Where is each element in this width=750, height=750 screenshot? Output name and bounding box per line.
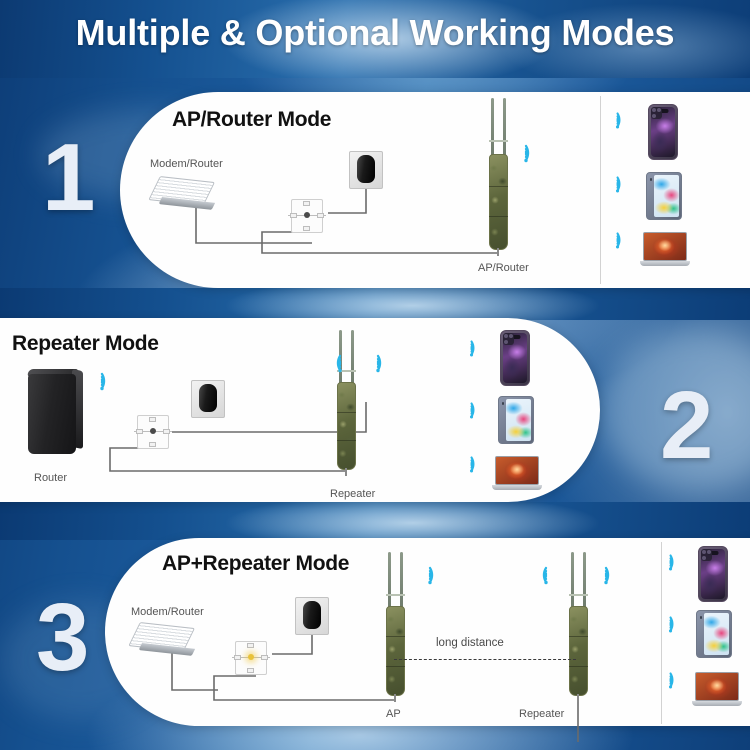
wifi-signal-icon	[372, 350, 398, 376]
poe-port-bottom	[303, 226, 310, 231]
antenna-rod-right	[351, 330, 354, 384]
tablet-screen	[654, 175, 679, 217]
laptop-base	[492, 485, 542, 490]
laptop-base	[692, 701, 742, 706]
caption-repeater-3: Repeater	[519, 708, 564, 720]
antenna-seam	[489, 216, 508, 217]
panel-3-divider	[661, 542, 662, 724]
antenna-crossbar	[489, 140, 508, 142]
modem-device-1	[160, 176, 218, 210]
poe-port-left	[234, 655, 241, 660]
client-laptop-2	[492, 456, 542, 492]
antenna-cable-tail	[394, 694, 396, 702]
antenna-rod-left	[491, 98, 494, 156]
mode-title-repeater: Repeater Mode	[12, 332, 159, 356]
poe-port-top	[303, 201, 310, 206]
tablet-screen	[704, 613, 729, 655]
poe-port-top	[149, 417, 156, 422]
client-laptop-1	[640, 232, 690, 268]
caption-modem-router-3: Modem/Router	[131, 606, 204, 618]
phone-camera-module	[701, 549, 712, 561]
step-number-3: 3	[36, 590, 89, 686]
antenna-rod-right	[400, 552, 403, 608]
camouflage-antenna-repeater-3	[566, 552, 591, 702]
wifi-signal-icon	[96, 368, 122, 394]
antenna-cable-tail	[497, 248, 499, 256]
laptop-base	[640, 261, 690, 266]
router-front-face	[28, 374, 76, 454]
power-adapter-brick	[303, 601, 321, 629]
poe-port-right	[163, 429, 170, 434]
antenna-camo-body	[489, 154, 508, 250]
poe-port-left	[136, 429, 143, 434]
wifi-signal-icon	[520, 140, 546, 166]
client-tablet-1	[646, 172, 682, 220]
antenna-cable-tail	[345, 468, 347, 476]
antenna-camo-body	[337, 382, 356, 470]
poe-port-bottom	[247, 668, 254, 673]
antenna-seam	[386, 666, 405, 667]
antenna-seam	[337, 412, 356, 413]
phone-camera-module	[503, 333, 514, 345]
tower-router-2	[22, 368, 84, 454]
antenna-camo-body	[569, 606, 588, 696]
infographic-root: Multiple & Optional Working Modes 1 2 3 …	[0, 0, 750, 750]
wifi-signal-icon	[612, 228, 636, 252]
separator-band-1	[0, 288, 750, 320]
wifi-signal-icon	[665, 612, 689, 636]
poe-port-right	[261, 655, 268, 660]
wifi-signal-icon	[612, 172, 636, 196]
caption-repeater-2: Repeater	[330, 488, 375, 500]
antenna-seam	[569, 636, 588, 637]
antenna-rod-left	[388, 552, 391, 608]
tablet-camera	[650, 178, 653, 181]
antenna-seam	[386, 636, 405, 637]
laptop-screen	[695, 672, 739, 701]
antenna-crossbar	[569, 594, 588, 596]
antenna-rod-right	[583, 552, 586, 608]
tablet-screen	[506, 399, 531, 441]
poe-injector-2	[132, 412, 174, 452]
wall-outlet-adapter-3	[295, 597, 329, 635]
tablet-camera	[700, 616, 703, 619]
wifi-signal-icon	[466, 336, 490, 360]
poe-led	[248, 654, 254, 660]
client-smartphone-3	[698, 546, 728, 602]
modem-device-3	[140, 622, 198, 656]
laptop-screen	[495, 456, 539, 485]
caption-ap-router-device: AP/Router	[478, 262, 529, 274]
page-title: Multiple & Optional Working Modes	[0, 12, 750, 54]
client-smartphone-1	[648, 104, 678, 160]
wall-outlet-adapter-2	[191, 380, 225, 418]
antenna-rod-left	[571, 552, 574, 608]
poe-port-left	[290, 213, 297, 218]
step-number-1: 1	[42, 130, 95, 226]
client-tablet-2	[498, 396, 534, 444]
antenna-rod-right	[503, 98, 506, 156]
step-number-2: 2	[660, 378, 713, 474]
poe-port-bottom	[149, 442, 156, 447]
wifi-signal-icon	[320, 350, 346, 376]
poe-port-top	[247, 643, 254, 648]
antenna-camo-body	[386, 606, 405, 696]
wifi-signal-icon	[424, 562, 450, 588]
antenna-seam	[569, 666, 588, 667]
antenna-seam	[489, 186, 508, 187]
mode-title-ap-router: AP/Router Mode	[172, 108, 331, 132]
poe-led	[304, 212, 310, 218]
antenna-cable-tail	[577, 694, 579, 702]
wifi-signal-icon	[466, 398, 490, 422]
laptop-screen	[643, 232, 687, 261]
phone-camera-module	[651, 107, 662, 119]
caption-modem-router-1: Modem/Router	[150, 158, 223, 170]
power-adapter-brick	[199, 384, 217, 412]
wifi-signal-icon	[526, 562, 552, 588]
wifi-signal-icon	[466, 452, 490, 476]
wifi-signal-icon	[600, 562, 626, 588]
wifi-signal-icon	[665, 668, 689, 692]
wall-outlet-adapter-1	[349, 151, 383, 189]
poe-port-right	[317, 213, 324, 218]
power-adapter-brick	[357, 155, 375, 183]
client-tablet-3	[696, 610, 732, 658]
wifi-signal-icon	[665, 550, 689, 574]
separator-band-2	[0, 502, 750, 540]
camouflage-antenna-ap-router	[486, 98, 511, 256]
poe-injector-3	[230, 638, 272, 678]
caption-ap-3: AP	[386, 708, 401, 720]
long-distance-label: long distance	[436, 637, 504, 649]
antenna-seam	[337, 440, 356, 441]
poe-injector-1	[286, 196, 328, 236]
poe-led	[150, 428, 156, 434]
client-laptop-3	[692, 672, 742, 708]
panel-1-divider	[600, 96, 601, 284]
tablet-camera	[502, 402, 505, 405]
wifi-signal-icon	[612, 108, 636, 132]
client-smartphone-2	[500, 330, 530, 386]
caption-router-2: Router	[34, 472, 67, 484]
camouflage-antenna-ap-3	[383, 552, 408, 702]
mode-title-ap-repeater: AP+Repeater Mode	[162, 552, 349, 576]
antenna-crossbar	[386, 594, 405, 596]
long-distance-dashed-link	[394, 659, 576, 660]
